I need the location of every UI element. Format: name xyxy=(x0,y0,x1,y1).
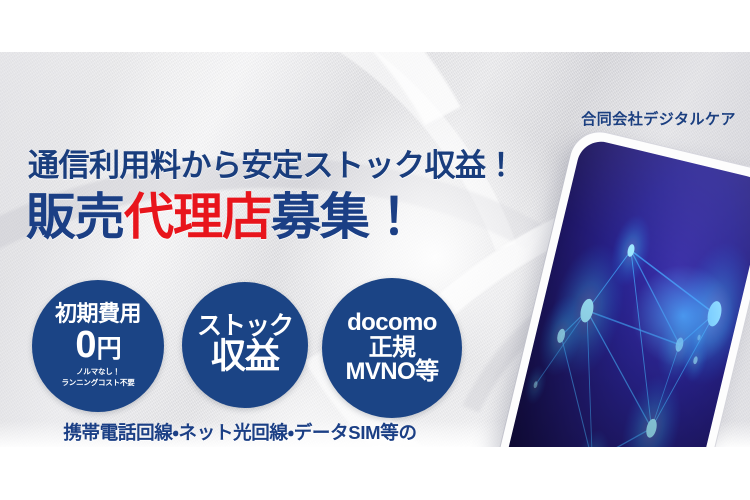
badge-initial-cost-number: 0 xyxy=(75,324,95,366)
footer-copy: 携帯電話回線・ネット光回線・データSIM等の 通信に関わる様々な商材の取り扱いが… xyxy=(0,420,480,447)
headline-line-1: 通信利用料から安定ストック収益！ xyxy=(28,140,516,185)
badge-carriers-line-2: 正規 xyxy=(369,336,416,361)
badge-stock-line-2: 収益 xyxy=(211,339,279,376)
headline-segment-sales: 販売 xyxy=(26,189,124,245)
badge-note-line-2: ランニングコスト不要 xyxy=(62,378,135,389)
badge-carriers-line-1: docomo xyxy=(347,311,437,336)
headline-line-2: 販売代理店募集！ xyxy=(26,192,418,242)
badge-carriers-line-3: MVNO等 xyxy=(346,360,439,385)
badge-initial-cost-unit: 円 xyxy=(97,335,121,363)
phone-screen xyxy=(494,137,750,447)
badge-initial-cost-label: 初期費用 xyxy=(55,303,141,325)
badge-stock-revenue: ストック 収益 xyxy=(182,282,308,408)
phone-device xyxy=(484,126,750,447)
badge-group: 初期費用 0円 ノルマなし！ ランニングコスト不要 ストック 収益 docomo… xyxy=(0,280,500,415)
screen-shading xyxy=(494,137,750,447)
company-name: 合同会社デジタルケア xyxy=(581,108,736,129)
badge-stock-line-1: ストック xyxy=(197,314,293,339)
badge-note-line-1: ノルマなし！ xyxy=(62,367,135,378)
badge-initial-cost-value: 0円 xyxy=(75,326,120,364)
headline-segment-agency: 代理店 xyxy=(124,189,271,245)
banner-canvas: 合同会社デジタルケア 通信利用料から安定ストック収益！ 販売代理店募集！ 初期費… xyxy=(0,0,750,500)
badge-initial-cost: 初期費用 0円 ノルマなし！ ランニングコスト不要 xyxy=(32,280,164,412)
badge-initial-cost-note: ノルマなし！ ランニングコスト不要 xyxy=(62,367,135,389)
headline-segment-recruit: 募集！ xyxy=(271,189,418,245)
footer-copy-line-1: 携帯電話回線・ネット光回線・データSIM等の xyxy=(63,422,416,443)
footer-copy-line-2: 通信に関わる様々な商材の取り扱いが可能！ xyxy=(0,446,480,447)
badge-carriers: docomo 正規 MVNO等 xyxy=(322,278,462,418)
promo-banner: 合同会社デジタルケア 通信利用料から安定ストック収益！ 販売代理店募集！ 初期費… xyxy=(0,52,750,447)
